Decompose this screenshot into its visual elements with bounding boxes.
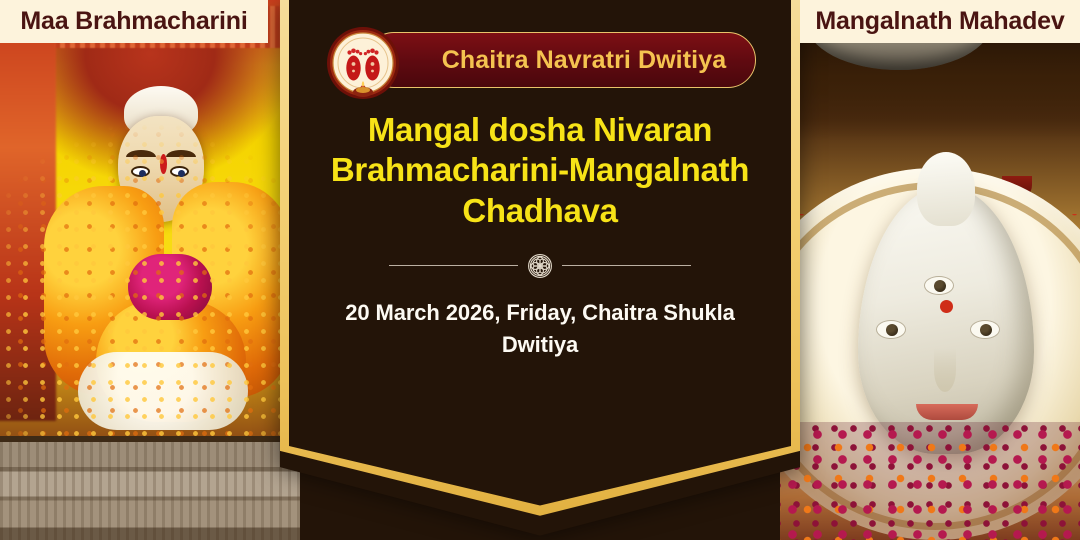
floral-rosette-icon — [527, 253, 553, 279]
shivling-third-eye — [924, 276, 954, 295]
rose-petal-offerings — [780, 422, 1080, 540]
silver-temple-steps — [0, 436, 300, 540]
shivling-eye-right — [970, 320, 1000, 339]
shivling-mouth — [916, 404, 978, 420]
panel-content: Chaitra Navratri Dwitiya — [280, 0, 800, 361]
right-photo-caption-bar: Mangalnath Mahadev — [800, 0, 1080, 43]
event-badge-label: Chaitra Navratri Dwitiya — [442, 46, 726, 75]
left-photo-caption-text: Maa Brahmacharini — [20, 7, 247, 36]
shivling-eye-left — [876, 320, 906, 339]
festival-promo-banner: Maa Brahmacharini Mangalnath Mahadev Cha… — [0, 0, 1080, 540]
right-photo-caption-text: Mangalnath Mahadev — [815, 7, 1064, 36]
right-deity-photo — [780, 0, 1080, 540]
shivling-bindi — [940, 300, 953, 313]
left-photo-caption-bar: Maa Brahmacharini — [0, 0, 268, 43]
charan-paduka-footprints-icon — [324, 26, 402, 104]
center-content-panel: Chaitra Navratri Dwitiya — [280, 0, 800, 540]
ornamental-divider — [389, 251, 691, 281]
divider-rule-right — [562, 265, 691, 266]
left-deity-photo — [0, 0, 300, 540]
divider-rule-left — [389, 265, 518, 266]
event-badge: Chaitra Navratri Dwitiya — [324, 26, 756, 94]
event-date-text: 20 March 2026, Friday, Chaitra Shukla Dw… — [330, 297, 750, 361]
page-title: Mangal dosha Nivaran Brahmacharini-Manga… — [305, 110, 775, 231]
shivling-nose — [934, 348, 956, 392]
event-badge-pill: Chaitra Navratri Dwitiya — [366, 32, 756, 88]
